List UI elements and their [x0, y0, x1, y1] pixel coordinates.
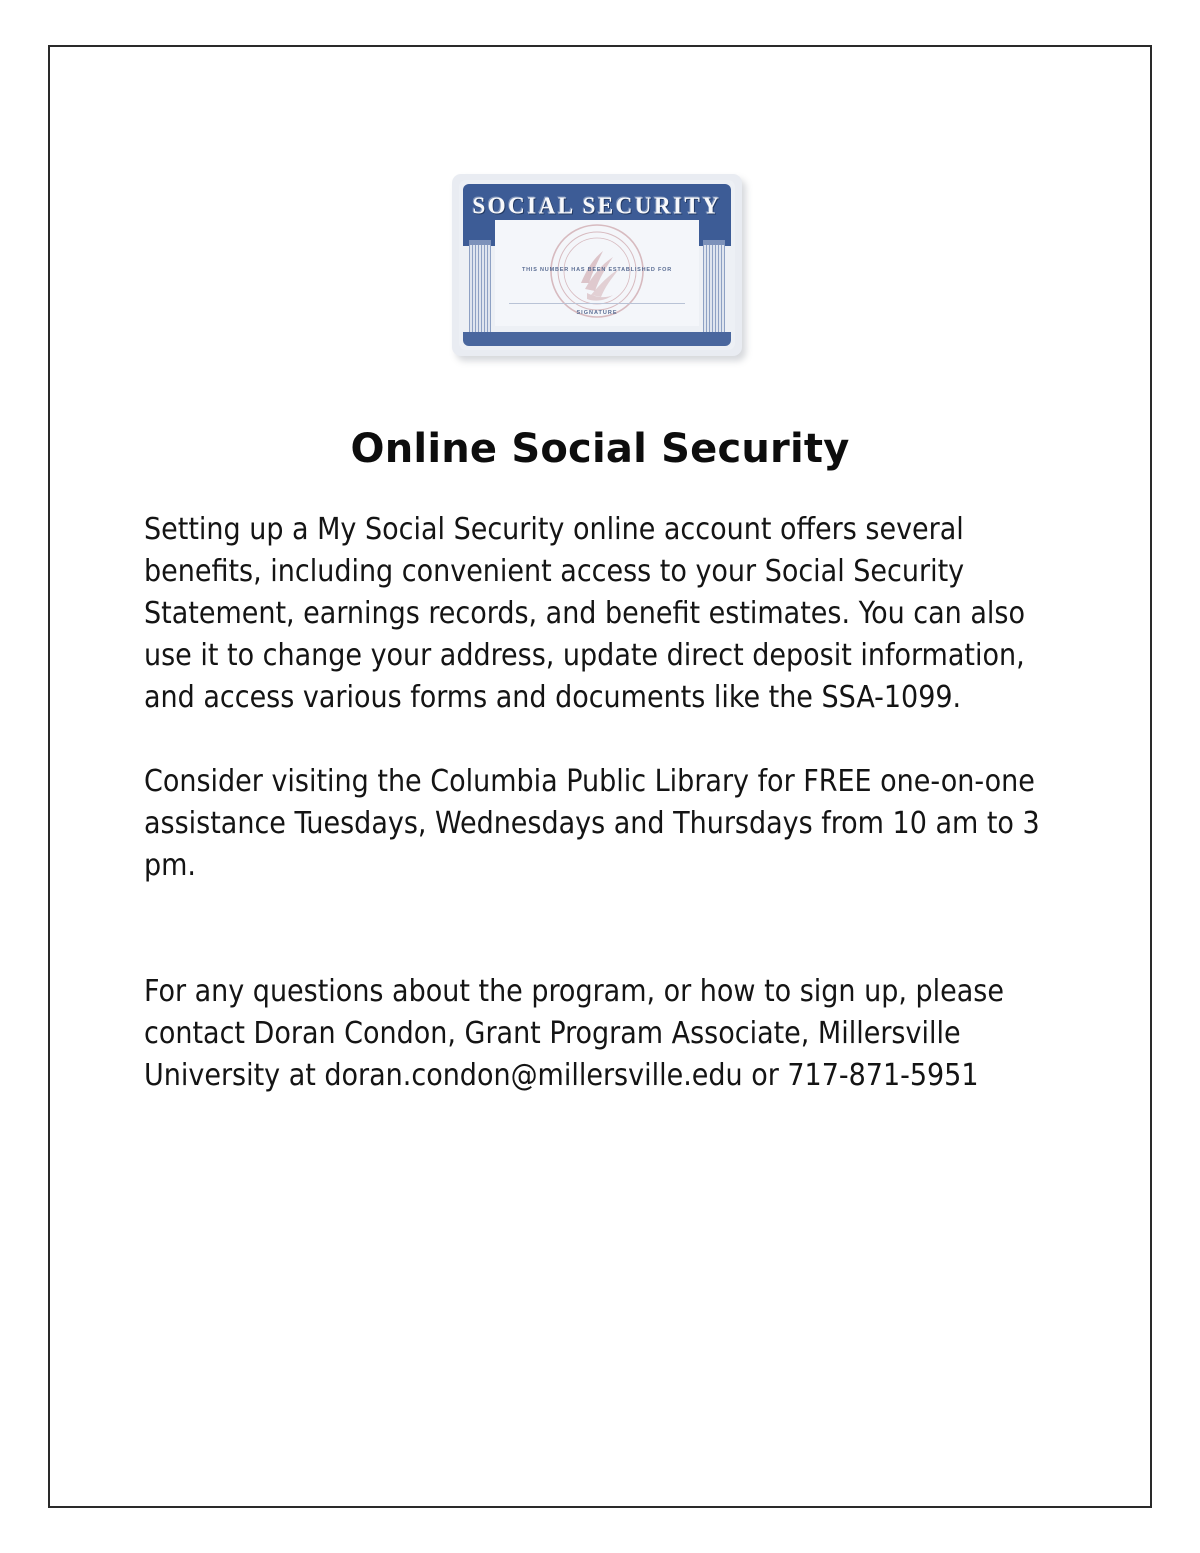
- card-graphic: SOCIAL SECURITY THIS NUMBER HAS BEEN: [452, 174, 742, 356]
- card-body-panel: THIS NUMBER HAS BEEN ESTABLISHED FOR SIG…: [495, 220, 699, 326]
- card-signature-label: SIGNATURE: [495, 310, 699, 316]
- paragraph-intro: Setting up a My Social Security online a…: [144, 509, 1074, 719]
- social-security-card-image: SOCIAL SECURITY THIS NUMBER HAS BEEN: [452, 174, 742, 356]
- page-title: Online Social Security: [50, 426, 1150, 472]
- paragraph-library-assistance: Consider visiting the Columbia Public Li…: [144, 761, 1074, 887]
- card-band-title: SOCIAL SECURITY: [463, 192, 731, 220]
- document-body: Setting up a My Social Security online a…: [144, 509, 1074, 1097]
- card-inner-frame: SOCIAL SECURITY THIS NUMBER HAS BEEN: [459, 180, 735, 350]
- paragraph-contact: For any questions about the program, or …: [144, 971, 1074, 1097]
- card-caption-text: THIS NUMBER HAS BEEN ESTABLISHED FOR: [495, 267, 699, 273]
- card-footer-band: [463, 332, 731, 346]
- paragraph-spacer: [144, 719, 1074, 761]
- card-column-left-icon: [469, 240, 491, 344]
- document-page: SOCIAL SECURITY THIS NUMBER HAS BEEN: [48, 45, 1152, 1508]
- paragraph-spacer: [144, 887, 1074, 971]
- card-signature-line: [509, 303, 685, 304]
- card-column-right-icon: [703, 240, 725, 344]
